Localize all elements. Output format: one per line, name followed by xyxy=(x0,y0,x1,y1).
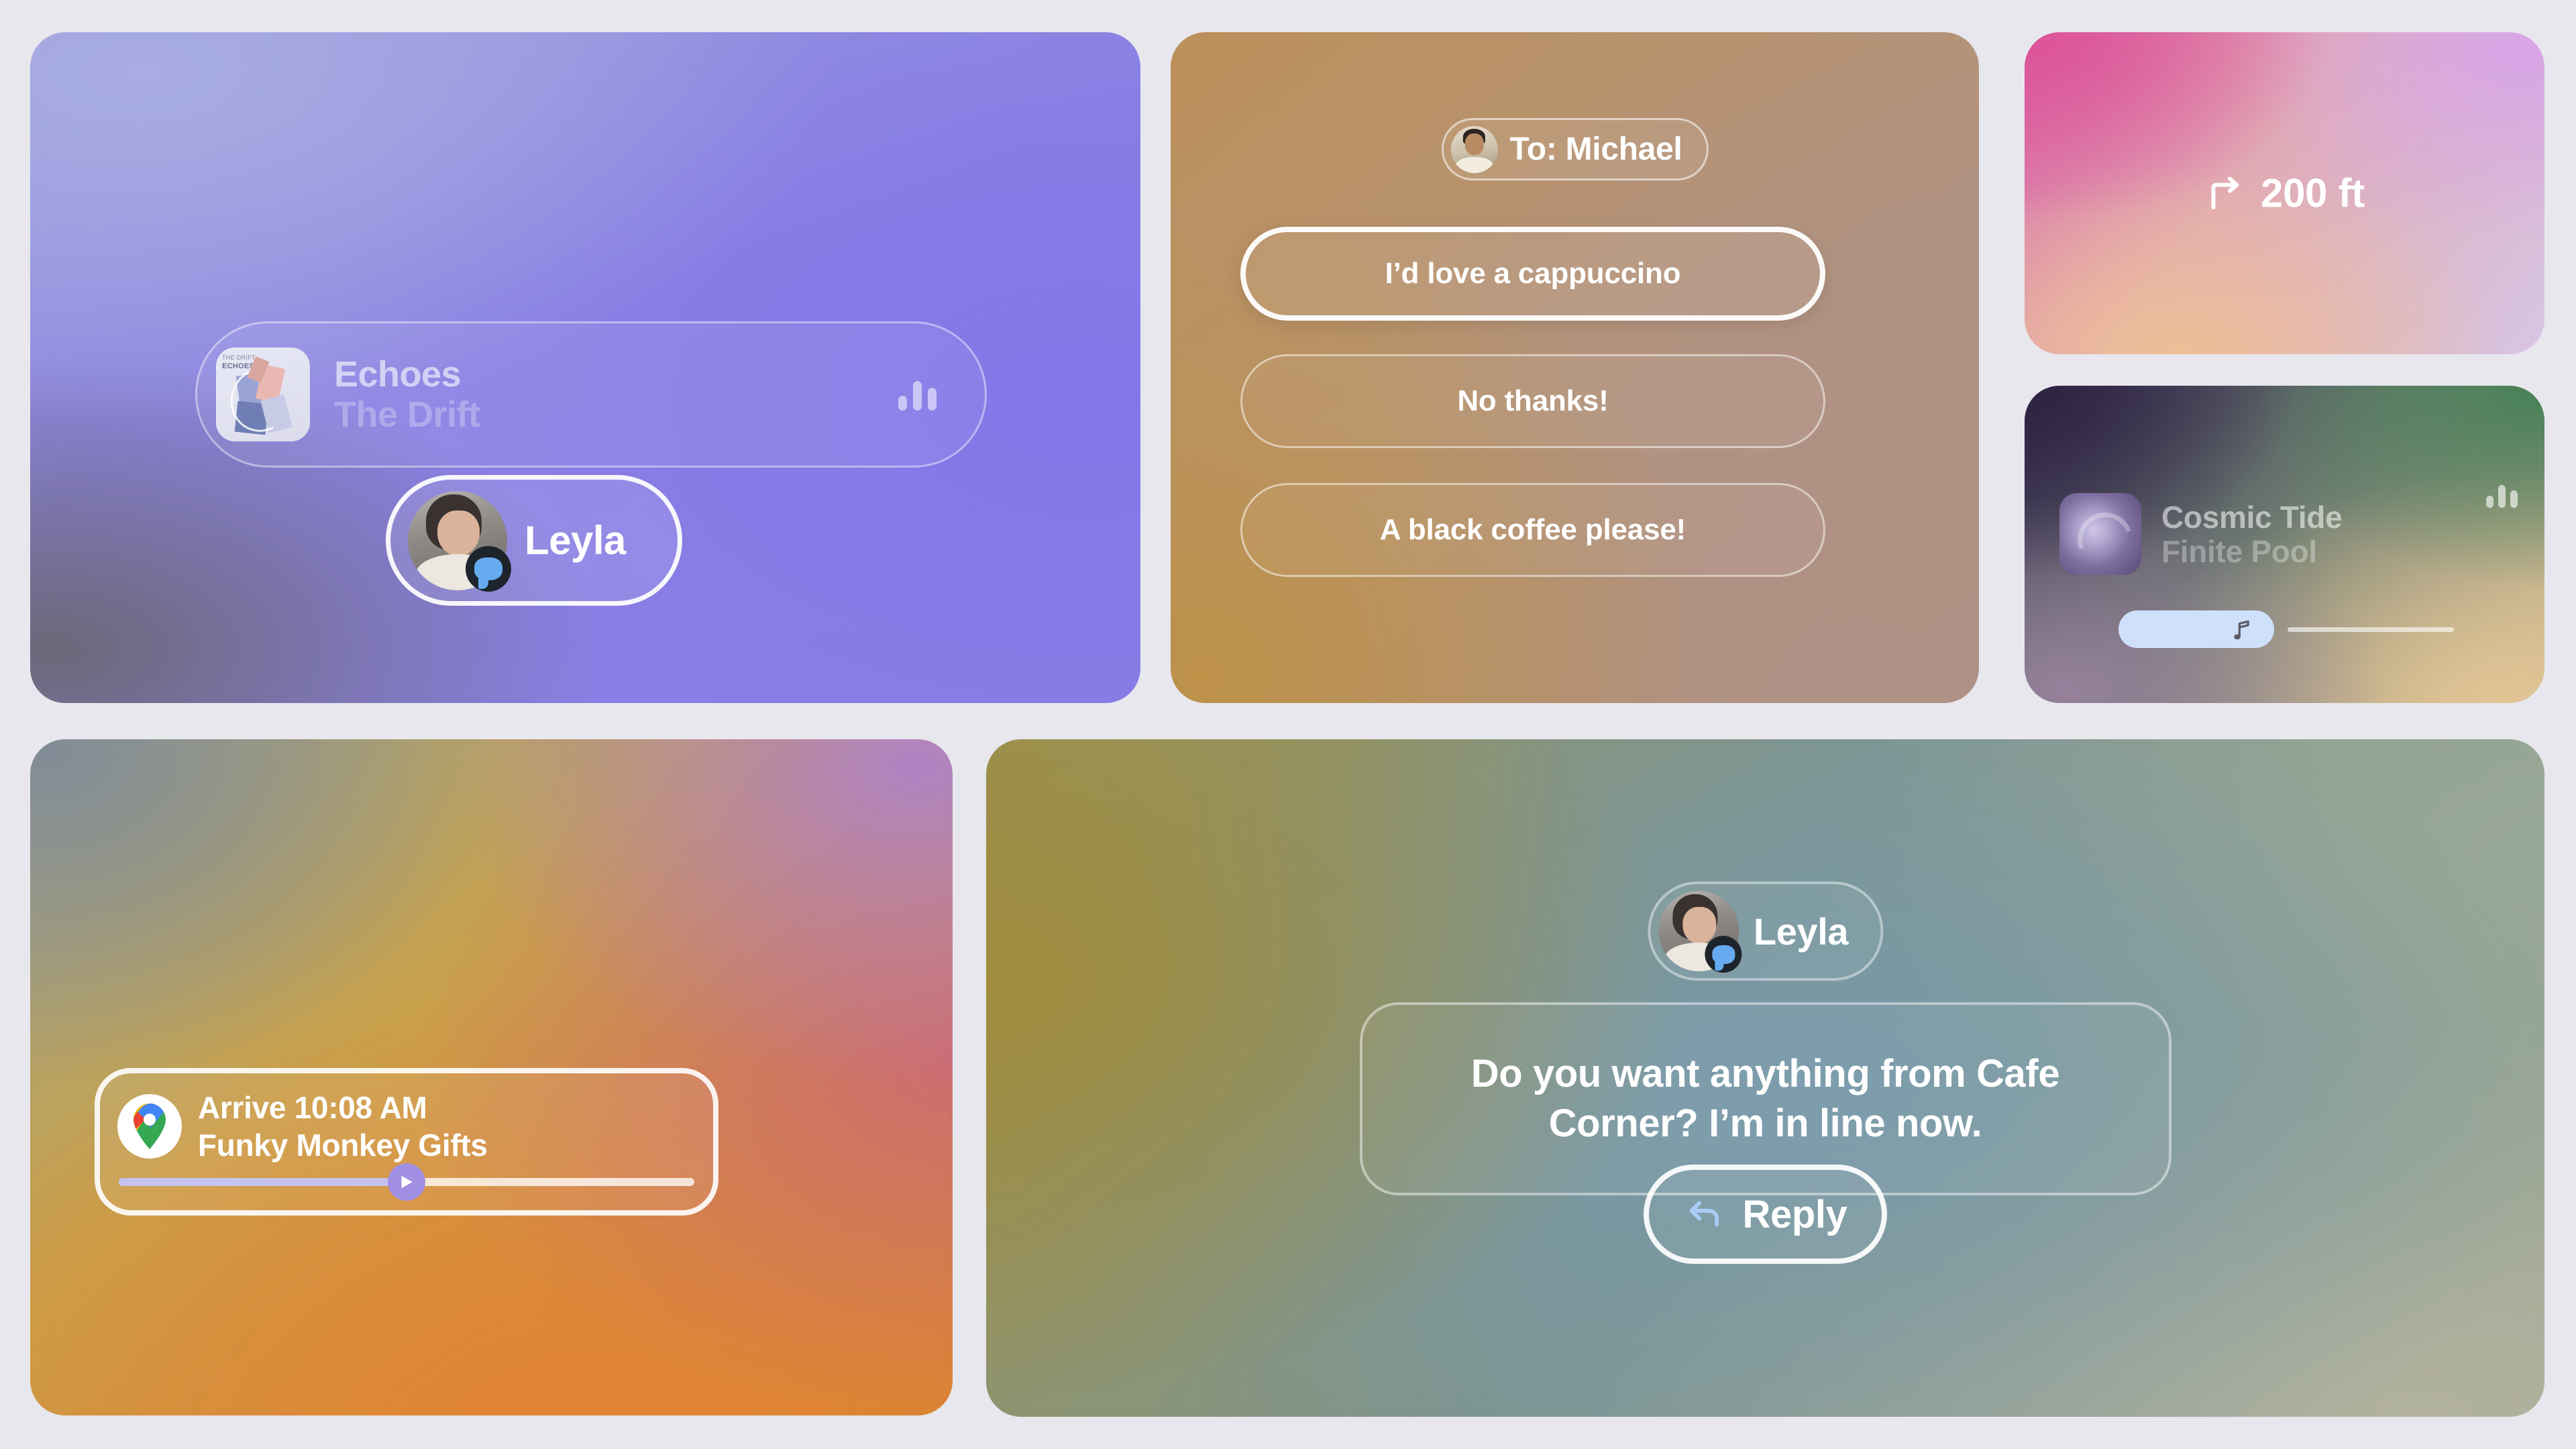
turn-right-icon xyxy=(2204,172,2246,214)
cosmic-track-row: Cosmic Tide Finite Pool xyxy=(2059,493,2342,575)
navigation-arrow-icon xyxy=(396,1172,417,1192)
now-playing-pill[interactable]: THE DRIFTECHOES Echoes The Drift xyxy=(195,321,987,468)
cosmic-scrubber[interactable] xyxy=(2118,610,2521,648)
scrubber-handle[interactable] xyxy=(2118,610,2274,648)
message-body: Do you want anything from Cafe Corner? I… xyxy=(1404,1049,2127,1148)
equalizer-icon xyxy=(2486,481,2518,508)
reply-arrow-icon xyxy=(1684,1193,1725,1235)
track-artist: The Drift xyxy=(334,394,480,435)
arrival-destination: Funky Monkey Gifts xyxy=(198,1127,488,1163)
avatar xyxy=(1658,891,1739,971)
cosmic-tide-card[interactable]: Cosmic Tide Finite Pool xyxy=(2025,386,2544,703)
arrival-card[interactable]: Arrive 10:08 AM Funky Monkey Gifts 8:32 xyxy=(30,739,953,1415)
contact-chip-leyla[interactable]: Leyla xyxy=(386,475,682,606)
reply-option-2[interactable]: A black coffee please! xyxy=(1240,483,1825,577)
messages-badge-icon xyxy=(466,546,511,592)
cosmic-track-title: Cosmic Tide xyxy=(2161,499,2342,535)
contact-name: Leyla xyxy=(525,517,626,563)
messages-badge-icon xyxy=(1705,936,1742,973)
reply-button[interactable]: Reply xyxy=(1644,1165,1888,1264)
reply-option-1-label: No thanks! xyxy=(1457,384,1608,418)
album-art-label-top: THE DRIFT xyxy=(222,354,256,362)
arrival-eta: Arrive 10:08 AM xyxy=(198,1089,488,1126)
avatar xyxy=(1450,126,1497,173)
google-maps-pin-icon xyxy=(117,1094,182,1159)
message-sender-name: Leyla xyxy=(1754,910,1848,953)
maneuver-row: 200 ft xyxy=(2204,170,2365,217)
album-art-label-bottom: ECHOES xyxy=(222,362,254,370)
message-card[interactable]: Leyla Do you want anything from Cafe Cor… xyxy=(986,739,2544,1417)
album-art-swirl xyxy=(2059,493,2141,575)
album-art: THE DRIFTECHOES xyxy=(216,347,310,441)
suggested-replies-card[interactable]: To: Michael I’d love a cappuccino No tha… xyxy=(1171,32,1979,703)
now-playing-card[interactable]: THE DRIFTECHOES Echoes The Drift Leyla xyxy=(30,32,1140,703)
reply-option-1[interactable]: No thanks! xyxy=(1240,354,1825,448)
route-progress-handle[interactable] xyxy=(388,1163,425,1201)
route-progress-track[interactable] xyxy=(119,1178,694,1186)
navigation-distance-card[interactable]: 200 ft xyxy=(2025,32,2544,354)
reply-option-0-label: I’d love a cappuccino xyxy=(1385,257,1681,290)
recipient-label: To: Michael xyxy=(1509,131,1682,168)
arrival-panel[interactable]: Arrive 10:08 AM Funky Monkey Gifts xyxy=(95,1068,718,1216)
track-title: Echoes xyxy=(334,354,480,395)
scrubber-track[interactable] xyxy=(2288,627,2454,632)
distance-label: 200 ft xyxy=(2261,170,2365,217)
equalizer-icon xyxy=(898,378,936,411)
widget-board: THE DRIFTECHOES Echoes The Drift Leyla xyxy=(0,0,2576,1449)
reply-option-2-label: A black coffee please! xyxy=(1380,513,1686,547)
avatar xyxy=(408,491,507,590)
reply-option-0[interactable]: I’d love a cappuccino xyxy=(1240,227,1825,321)
cosmic-track-artist: Finite Pool xyxy=(2161,533,2342,570)
track-meta: Echoes The Drift xyxy=(334,354,480,435)
reply-button-label: Reply xyxy=(1743,1192,1847,1237)
music-note-icon xyxy=(2227,614,2257,644)
recipient-chip[interactable]: To: Michael xyxy=(1441,118,1708,180)
message-sender-chip[interactable]: Leyla xyxy=(1648,881,1883,981)
